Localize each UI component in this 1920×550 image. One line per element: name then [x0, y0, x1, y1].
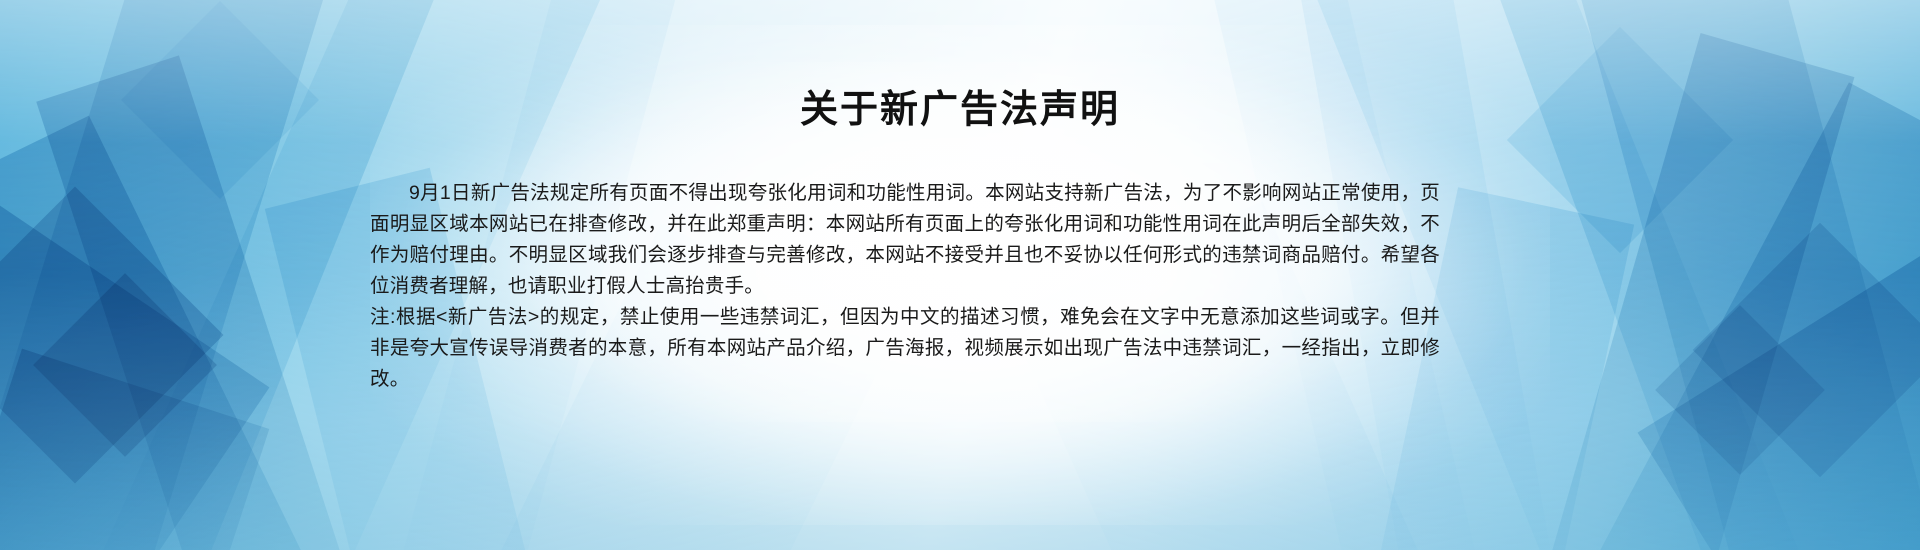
advertising-law-statement-banner: 关于新广告法声明 9月1日新广告法规定所有页面不得出现夸张化用词和功能性用词。本… [0, 0, 1920, 550]
page-title: 关于新广告法声明 [0, 88, 1920, 134]
statement-paragraph-1: 9月1日新广告法规定所有页面不得出现夸张化用词和功能性用词。本网站支持新广告法，… [370, 178, 1440, 302]
statement-paragraph-2: 注:根据<新广告法>的规定，禁止使用一些违禁词汇，但因为中文的描述习惯，难免会在… [370, 302, 1440, 395]
banner-content: 关于新广告法声明 9月1日新广告法规定所有页面不得出现夸张化用词和功能性用词。本… [0, 0, 1920, 550]
statement-body: 9月1日新广告法规定所有页面不得出现夸张化用词和功能性用词。本网站支持新广告法，… [370, 178, 1440, 395]
